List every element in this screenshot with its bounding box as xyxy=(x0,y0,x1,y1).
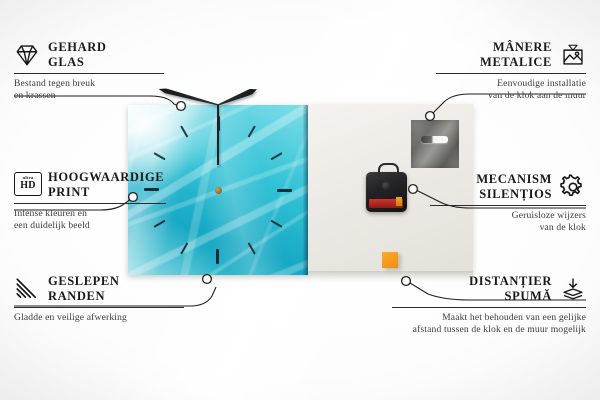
clock-mechanism xyxy=(366,172,407,212)
callout-title-line2: GLAS xyxy=(48,55,106,70)
foam-spacer xyxy=(382,252,398,268)
callout-rule xyxy=(14,203,166,204)
callout-manere-metalice: MÂNERE METALICE Eenvoudige installatie v… xyxy=(436,40,586,101)
callout-title-line1: MECANISM xyxy=(476,172,552,187)
callout-title-line2: SPUMĂ xyxy=(469,289,552,304)
callout-rule xyxy=(430,205,586,206)
ultra-hd-badge-main: HD xyxy=(20,181,35,191)
callout-title-line1: HOOGWAARDIGE xyxy=(48,170,164,185)
callout-title-line2: METALICE xyxy=(480,55,552,70)
clock-hour-hand xyxy=(217,86,258,107)
callout-gehard-glas: GEHARD GLAS Bestand tegen breuk en krass… xyxy=(14,40,164,101)
callout-desc-line2: een duidelijk beeld xyxy=(14,220,166,232)
callout-desc-line1: Eenvoudige installatie xyxy=(436,78,586,90)
infographic-canvas: GEHARD GLAS Bestand tegen breuk en krass… xyxy=(0,0,600,400)
callout-desc-line1: Bestand tegen breuk xyxy=(14,78,164,90)
callout-rule xyxy=(436,73,586,74)
hanger-slot xyxy=(421,136,448,143)
callout-rule xyxy=(14,307,184,308)
callout-title-line2: RANDEN xyxy=(48,289,120,304)
clock-center-cap xyxy=(215,187,222,194)
mechanism-hanging-loop xyxy=(378,163,399,177)
callout-hoogwaardige-print: ultra HD HOOGWAARDIGE PRINT Intense kleu… xyxy=(14,170,166,231)
callout-desc-line2: van de klok aan de muur xyxy=(436,90,586,102)
callout-title-line2: PRINT xyxy=(48,185,164,200)
wall-hanger-plate xyxy=(411,120,459,168)
ultra-hd-icon: ultra HD xyxy=(14,172,40,198)
callout-desc-line1: Geruisloze wijzers xyxy=(430,210,586,222)
clock-minute-hand xyxy=(157,87,218,108)
product-image xyxy=(128,105,473,275)
polished-edges-icon xyxy=(14,276,40,302)
callout-desc-line1: Intense kleuren en xyxy=(14,208,166,220)
callout-desc-line1: Gladde en veilige afwerking xyxy=(14,312,184,324)
callout-desc-line2: afstand tussen de klok en de muur mogeli… xyxy=(392,324,586,336)
callout-rule xyxy=(14,73,164,74)
diamond-icon xyxy=(14,42,40,68)
picture-hanger-icon xyxy=(560,42,586,68)
callout-title-line1: DISTANȚIER xyxy=(469,274,552,289)
callout-title-line1: GESLEPEN xyxy=(48,274,120,289)
callout-desc-line2: van de klok xyxy=(430,222,586,234)
callout-rule xyxy=(392,307,586,308)
callout-desc-line2: en krassen xyxy=(14,90,164,102)
callout-title-line2: SILENȚIOS xyxy=(476,187,552,202)
mechanism-shaft xyxy=(382,182,390,190)
callout-desc-line1: Maakt het behouden van een gelijke xyxy=(392,312,586,324)
callout-mecanism-silentios: MECANISM SILENȚIOS Geruisloze wijzers va… xyxy=(430,172,586,233)
callout-distantier-spuma: DISTANȚIER SPUMĂ Maakt het behouden van … xyxy=(392,274,586,335)
callout-geslepen-randen: GESLEPEN RANDEN Gladde en veilige afwerk… xyxy=(14,274,184,324)
callout-title-line1: MÂNERE xyxy=(480,40,552,55)
callout-title-line1: GEHARD xyxy=(48,40,106,55)
gear-icon xyxy=(560,174,586,200)
clock-second-hand xyxy=(217,105,219,165)
foam-spacer-icon xyxy=(560,276,586,302)
battery xyxy=(369,199,403,208)
